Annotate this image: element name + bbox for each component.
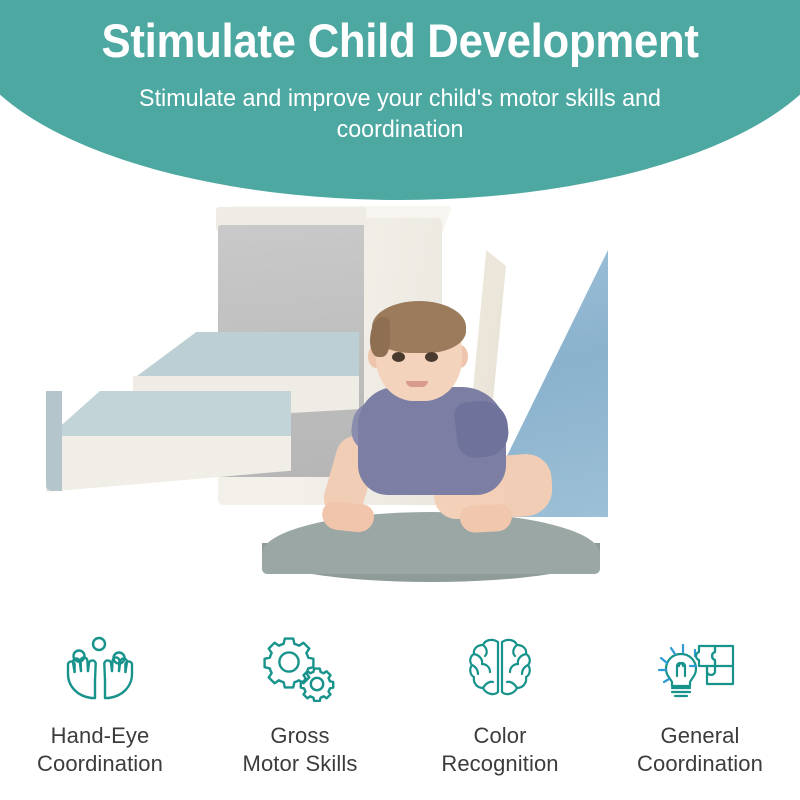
baby-mouth xyxy=(406,381,428,387)
baby-hand-right xyxy=(459,504,512,534)
lightbulb-puzzle-icon xyxy=(657,630,743,708)
feature-item-color-recognition: ColorRecognition xyxy=(400,630,600,800)
baby-eye-left xyxy=(392,352,405,362)
feature-item-general-coordination: GeneralCoordination xyxy=(600,630,800,800)
foam-step-upper-tread xyxy=(133,332,359,379)
page-title: Stimulate Child Development xyxy=(101,15,698,67)
feature-item-gross-motor: GrossMotor Skills xyxy=(200,630,400,800)
header-banner: Stimulate Child Development Stimulate an… xyxy=(0,0,800,200)
feature-label-line2: Motor Skills xyxy=(243,751,358,776)
feature-item-hand-eye: Hand-EyeCoordination xyxy=(0,630,200,800)
baby-eye-right xyxy=(425,352,438,362)
baby-figure xyxy=(348,305,568,555)
foam-step-lower-tread xyxy=(46,391,291,439)
feature-label-line1: Color xyxy=(473,723,526,748)
feature-list: Hand-EyeCoordination GrossMotor Skills xyxy=(0,630,800,800)
page-subtitle: Stimulate and improve your child's motor… xyxy=(96,83,704,145)
feature-label: ColorRecognition xyxy=(441,722,558,777)
product-photo xyxy=(0,195,800,615)
brain-icon xyxy=(461,630,539,708)
feature-label: GrossMotor Skills xyxy=(243,722,358,777)
feature-label-line1: Gross xyxy=(270,723,329,748)
feature-label-line2: Coordination xyxy=(37,751,163,776)
marketing-infographic: Stimulate Child Development Stimulate an… xyxy=(0,0,800,800)
feature-label: GeneralCoordination xyxy=(637,722,763,777)
feature-label-line2: Coordination xyxy=(637,751,763,776)
feature-label-line1: Hand-Eye xyxy=(51,723,150,748)
foam-step-side xyxy=(46,391,62,491)
baby-hair-fringe xyxy=(370,317,390,357)
header-content: Stimulate Child Development Stimulate an… xyxy=(0,0,800,200)
feature-label: Hand-EyeCoordination xyxy=(37,722,163,777)
feature-label-line2: Recognition xyxy=(441,751,558,776)
gears-icon xyxy=(261,630,339,708)
feature-label-line1: General xyxy=(661,723,740,748)
clapping-hands-icon xyxy=(61,630,139,708)
